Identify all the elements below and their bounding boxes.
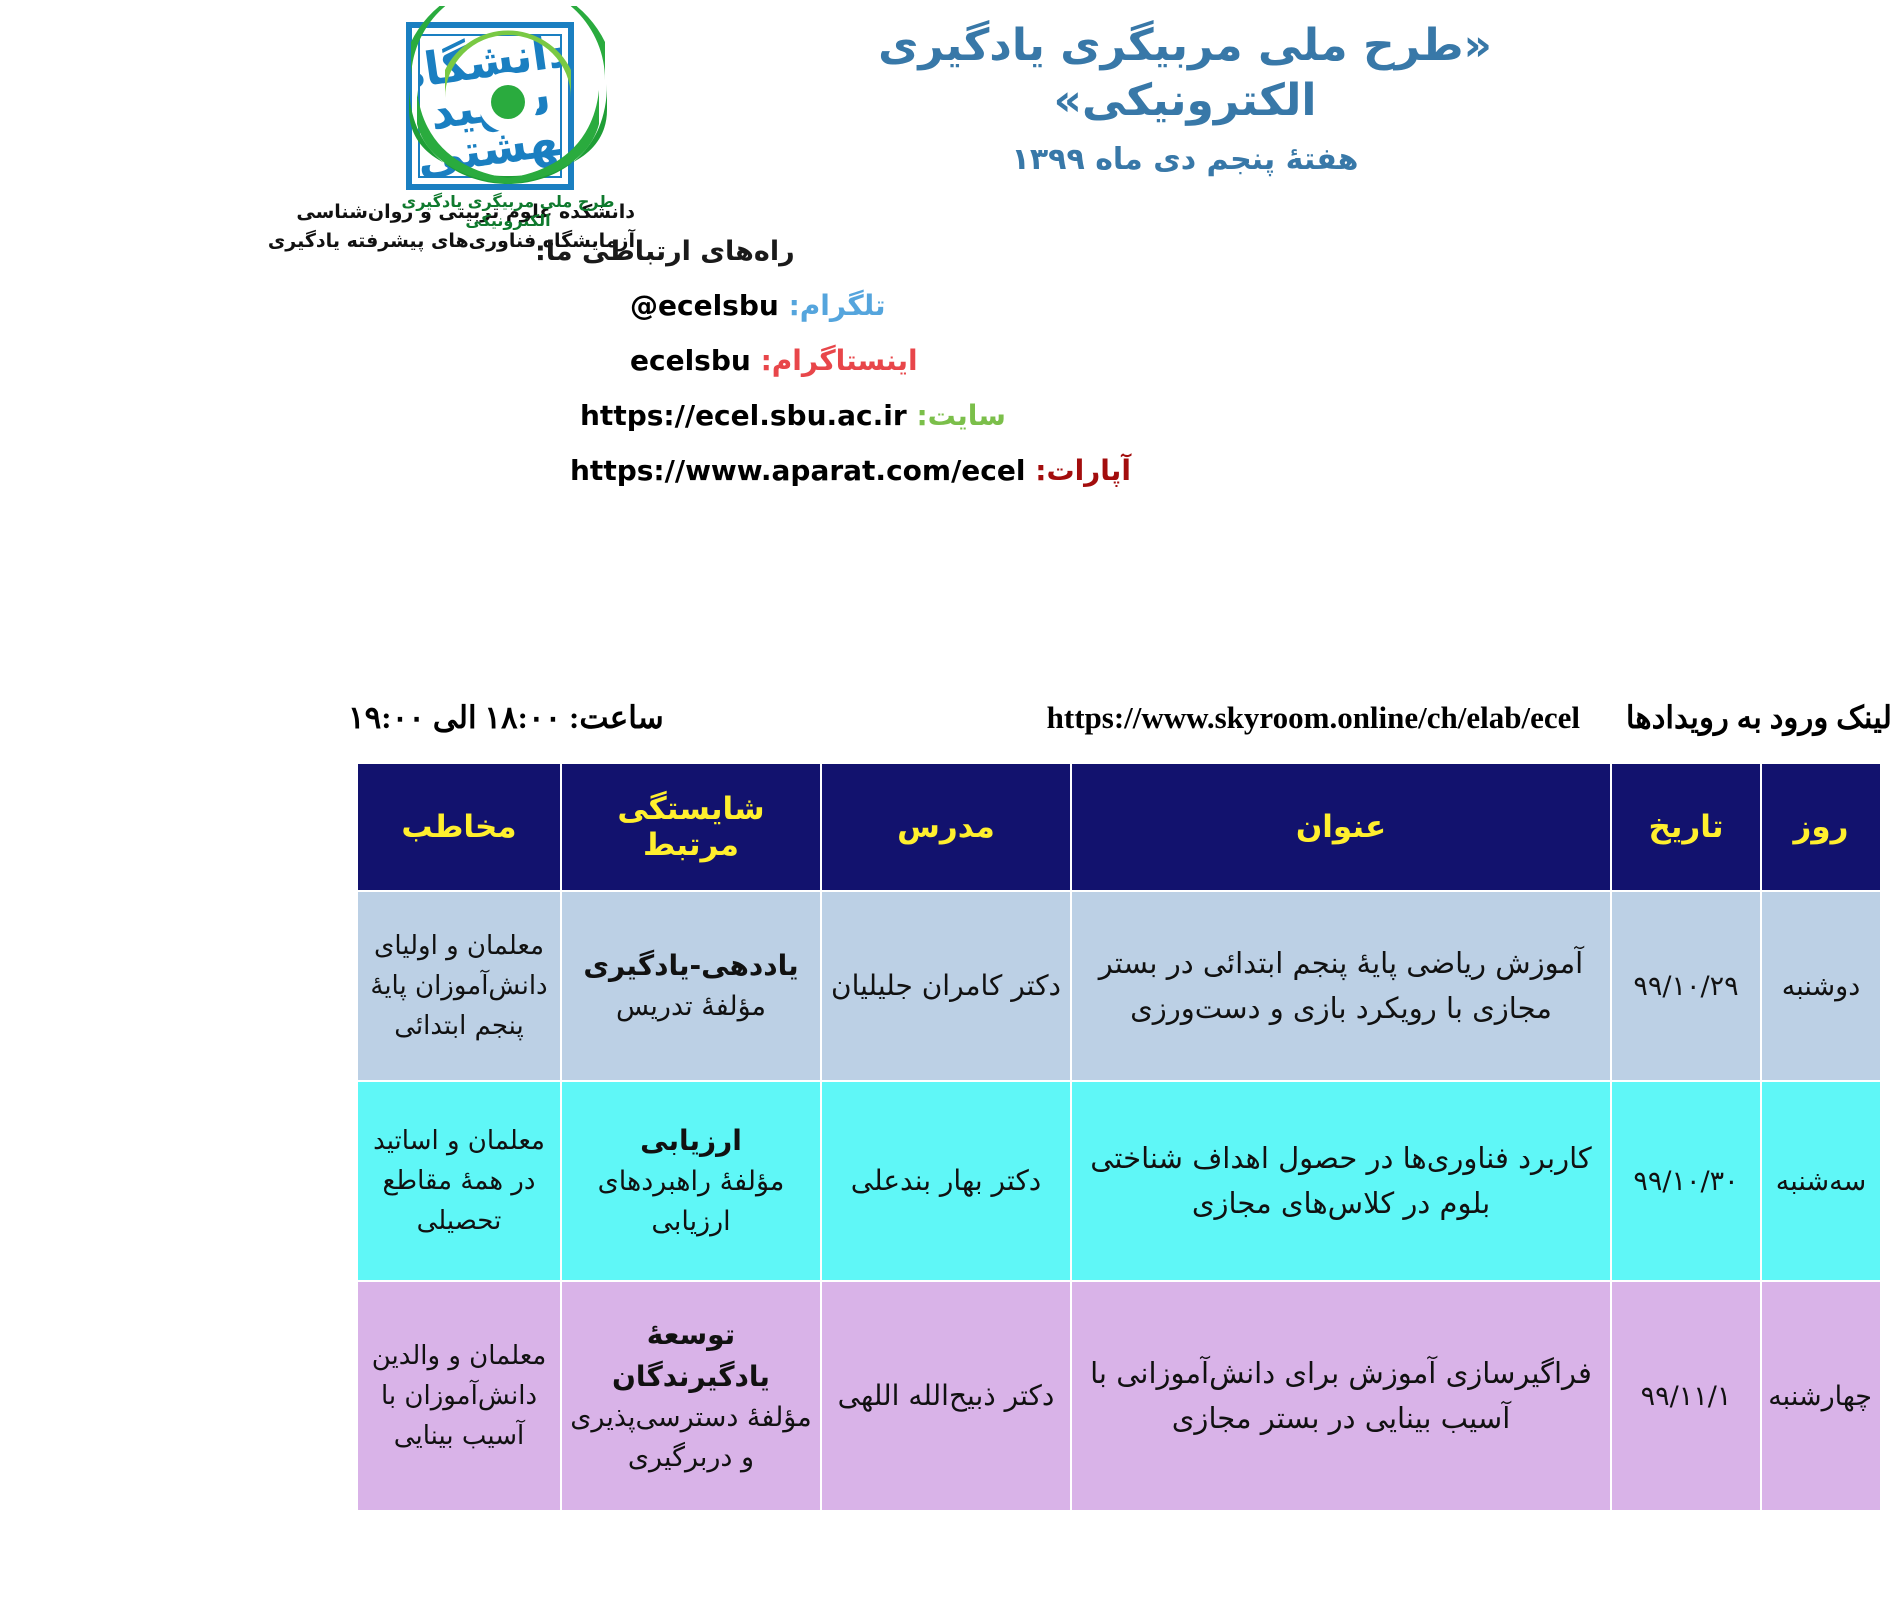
- title-block: «طرح ملی مربیگری یادگیری الکترونیکی» هفت…: [770, 18, 1600, 177]
- column-header-day: روز: [1761, 763, 1881, 891]
- cell-day: دوشنبه: [1761, 891, 1881, 1081]
- ecel-logo-block: طرح ملی مربیگری یادگیری الکترونیکی: [358, 6, 658, 230]
- cell-audience: معلمان و والدین دانش‌آموزان با آسیب بینا…: [357, 1281, 561, 1511]
- contact-label-instagram: اینستاگرام: [772, 344, 918, 377]
- contact-row-site: سایت: https://ecel.sbu.ac.ir: [340, 399, 1425, 432]
- ecel-logo-caption: طرح ملی مربیگری یادگیری الکترونیکی: [358, 192, 658, 230]
- event-link-bar: لینک ورود به رویدادها https://www.skyroo…: [340, 700, 1900, 760]
- table-row: چهارشنبه ۹۹/۱۱/۱ فراگیرسازی آموزش برای د…: [357, 1281, 1881, 1511]
- cell-competency: ارزیابی مؤلفهٔ راهبردهای ارزیابی: [561, 1081, 821, 1281]
- cell-date: ۹۹/۱۰/۲۹: [1611, 891, 1761, 1081]
- contact-value-instagram[interactable]: ecelsbu: [630, 344, 751, 377]
- contact-row-aparat: آپارات: https://www.aparat.com/ecel: [340, 454, 1425, 487]
- contact-label-telegram: تلگرام: [800, 289, 886, 322]
- column-header-teacher: مدرس: [821, 763, 1071, 891]
- contact-row-telegram: تلگرام: @ecelsbu: [340, 289, 1425, 322]
- session-time-label: ساعت: ۱۸:۰۰ الی ۱۹:۰۰: [348, 700, 664, 736]
- cell-title: کاربرد فناوری‌ها در حصول اهداف شناختی بل…: [1071, 1081, 1611, 1281]
- cell-audience: معلمان و اساتید در همهٔ مقاطع تحصیلی: [357, 1081, 561, 1281]
- poster-root: دانشگاه شهید بهشتی دانشکده علوم تربیتی و…: [340, 0, 1900, 1620]
- cell-teacher: دکتر کامران جلیلیان: [821, 891, 1071, 1081]
- column-header-competency: شایستگی مرتبط: [561, 763, 821, 891]
- schedule-table-head: روز تاریخ عنوان مدرس شایستگی مرتبط مخاطب: [357, 763, 1881, 891]
- contact-heading: راه‌های ارتباطی ما:: [340, 236, 1425, 267]
- cell-audience: معلمان و اولیای دانش‌آموزان پایهٔ پنجم ا…: [357, 891, 561, 1081]
- ecel-program-logo-icon: [393, 6, 623, 186]
- contact-value-telegram[interactable]: @ecelsbu: [630, 289, 779, 322]
- competency-main: ارزیابی: [570, 1120, 812, 1162]
- contact-label-aparat: آپارات: [1046, 454, 1130, 487]
- cell-competency: توسعهٔ یادگیرندگان مؤلفهٔ دسترسی‌پذیری و…: [561, 1281, 821, 1511]
- contact-label-site: سایت: [928, 399, 1006, 432]
- table-row: سه‌شنبه ۹۹/۱۰/۳۰ کاربرد فناوری‌ها در حصو…: [357, 1081, 1881, 1281]
- cell-day: چهارشنبه: [1761, 1281, 1881, 1511]
- event-link-url[interactable]: https://www.skyroom.online/ch/elab/ecel: [1047, 700, 1580, 736]
- competency-main: توسعهٔ یادگیرندگان: [570, 1314, 812, 1398]
- contact-value-site[interactable]: https://ecel.sbu.ac.ir: [580, 399, 907, 432]
- column-header-date: تاریخ: [1611, 763, 1761, 891]
- competency-sub: مؤلفهٔ دسترسی‌پذیری و دربرگیری: [570, 1398, 812, 1479]
- table-row: دوشنبه ۹۹/۱۰/۲۹ آموزش ریاضی پایهٔ پنجم ا…: [357, 891, 1881, 1081]
- schedule-table-wrap: روز تاریخ عنوان مدرس شایستگی مرتبط مخاطب…: [358, 762, 1882, 1512]
- cell-title: آموزش ریاضی پایهٔ پنجم ابتدائی در بستر م…: [1071, 891, 1611, 1081]
- schedule-table: روز تاریخ عنوان مدرس شایستگی مرتبط مخاطب…: [356, 762, 1882, 1512]
- competency-sub: مؤلفهٔ راهبردهای ارزیابی: [570, 1162, 812, 1243]
- cell-day: سه‌شنبه: [1761, 1081, 1881, 1281]
- cell-title: فراگیرسازی آموزش برای دانش‌آموزانی با آس…: [1071, 1281, 1611, 1511]
- cell-date: ۹۹/۱۱/۱: [1611, 1281, 1761, 1511]
- contact-row-instagram: اینستاگرام: ecelsbu: [340, 344, 1425, 377]
- page-title: «طرح ملی مربیگری یادگیری الکترونیکی»: [770, 18, 1600, 128]
- page-subtitle: هفتهٔ پنجم دی ماه ۱۳۹۹: [770, 142, 1600, 177]
- column-header-audience: مخاطب: [357, 763, 561, 891]
- event-link-label: لینک ورود به رویدادها: [1626, 700, 1892, 736]
- competency-sub: مؤلفهٔ تدریس: [570, 987, 812, 1028]
- competency-main: یاددهی-یادگیری: [570, 945, 812, 987]
- table-header-row: روز تاریخ عنوان مدرس شایستگی مرتبط مخاطب: [357, 763, 1881, 891]
- cell-date: ۹۹/۱۰/۳۰: [1611, 1081, 1761, 1281]
- cell-teacher: دکتر بهار بندعلی: [821, 1081, 1071, 1281]
- contact-block: راه‌های ارتباطی ما: تلگرام: @ecelsbu این…: [340, 236, 1425, 509]
- cell-teacher: دکتر ذبیح‌الله اللهی: [821, 1281, 1071, 1511]
- cell-competency: یاددهی-یادگیری مؤلفهٔ تدریس: [561, 891, 821, 1081]
- schedule-table-body: دوشنبه ۹۹/۱۰/۲۹ آموزش ریاضی پایهٔ پنجم ا…: [357, 891, 1881, 1511]
- contact-value-aparat[interactable]: https://www.aparat.com/ecel: [570, 454, 1025, 487]
- column-header-title: عنوان: [1071, 763, 1611, 891]
